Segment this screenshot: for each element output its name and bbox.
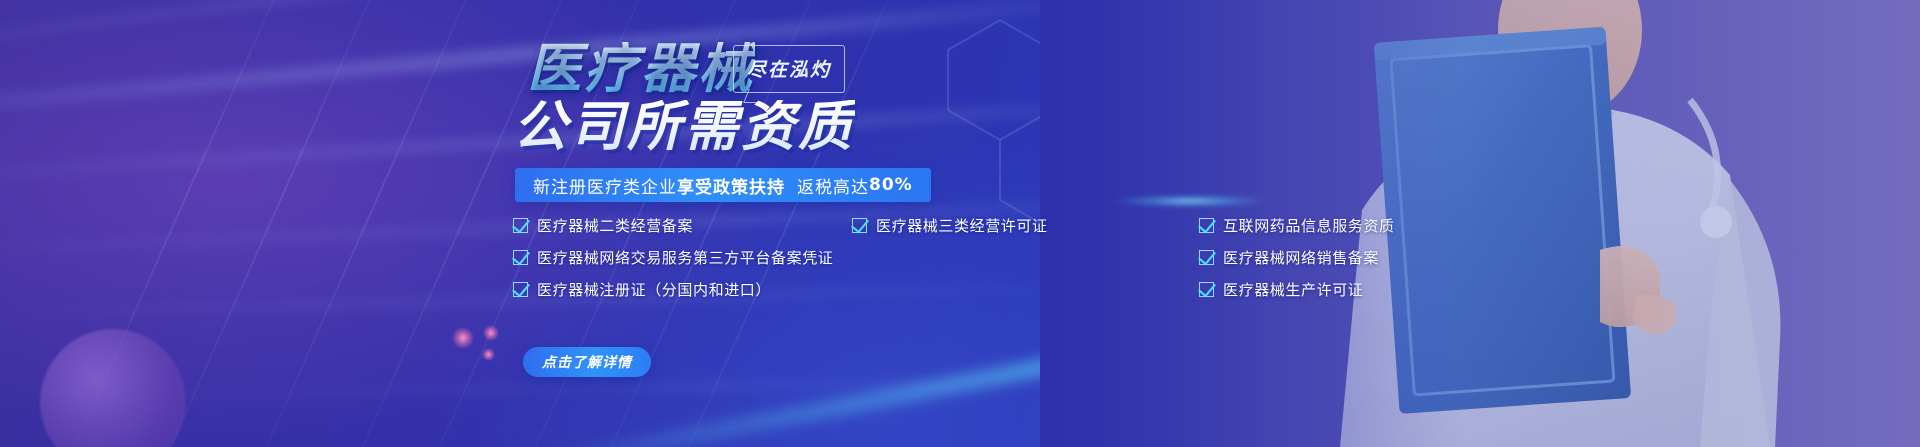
list-item[interactable]: 医疗器械网络交易服务第三方平台备案凭证 [513,247,833,268]
checkbox-checked-icon [1199,282,1214,297]
page-title-line2: 公司所需资质 [513,100,855,154]
policy-ribbon: 新注册医疗类企业 享受政策扶持 返税高达 80% [515,168,931,202]
learn-more-button-label: 点击了解详情 [542,352,632,372]
checklist-column-left: 医疗器械二类经营备案 医疗器械网络交易服务第三方平台备案凭证 医疗器械注册证（分… [513,215,833,311]
checklist-label: 医疗器械生产许可证 [1223,279,1363,300]
checkbox-checked-icon [513,282,528,297]
list-item[interactable]: 医疗器械二类经营备案 [513,215,833,236]
ribbon-text-part3: 返税高达 [797,173,869,198]
checklist-column-far-right: 互联网药品信息服务资质 医疗器械网络销售备案 医疗器械生产许可证 [1199,215,1395,311]
list-item[interactable]: 医疗器械网络销售备案 [1199,247,1395,268]
checklist-label: 医疗器械二类经营备案 [537,215,693,236]
checklist-label: 医疗器械注册证（分国内和进口） [537,279,771,300]
learn-more-button[interactable]: 点击了解详情 [523,347,651,377]
ribbon-text-part1: 新注册医疗类企业 [533,173,677,198]
list-item[interactable]: 医疗器械三类经营许可证 [852,215,1048,236]
decorative-dot [482,348,495,361]
checklist-label: 医疗器械网络销售备案 [1223,247,1379,268]
checkbox-checked-icon [513,218,528,233]
glow-highlight [1115,196,1265,206]
checklist-column-right: 医疗器械三类经营许可证 [852,215,1048,247]
decorative-dot [452,327,474,349]
decorative-dot [483,325,499,341]
checkbox-checked-icon [513,250,528,265]
decorative-orb [40,329,186,447]
banner-content: 医疗器械 公司所需资质 尽在泓灼 新注册医疗类企业 享受政策扶持 返税高达 80… [505,0,1265,447]
page-title-line1: 医疗器械 [527,42,755,96]
checklist-label: 医疗器械网络交易服务第三方平台备案凭证 [537,247,833,268]
list-item[interactable]: 医疗器械注册证（分国内和进口） [513,279,833,300]
checklist-label: 互联网药品信息服务资质 [1223,215,1395,236]
ribbon-text-part4: 80% [869,175,913,195]
list-item[interactable]: 医疗器械生产许可证 [1199,279,1395,300]
checklist-label: 医疗器械三类经营许可证 [876,215,1048,236]
checkbox-checked-icon [852,218,867,233]
list-item[interactable]: 互联网药品信息服务资质 [1199,215,1395,236]
medical-device-promo-banner: 医疗器械 公司所需资质 尽在泓灼 新注册医疗类企业 享受政策扶持 返税高达 80… [0,0,1920,447]
brand-speech-bubble: 尽在泓灼 [733,45,845,93]
checkbox-checked-icon [1199,250,1214,265]
ribbon-text-part2: 享受政策扶持 [677,173,785,198]
checkbox-checked-icon [1199,218,1214,233]
